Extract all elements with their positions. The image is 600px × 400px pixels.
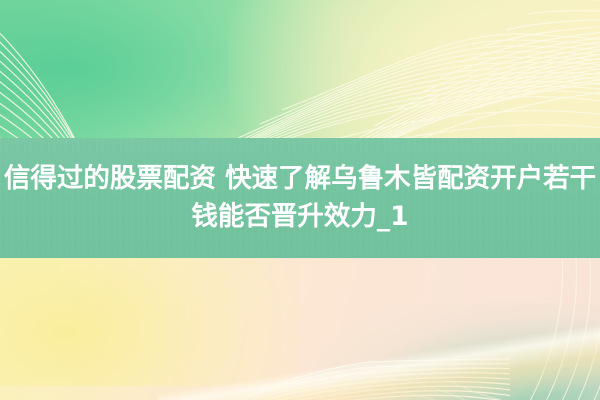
- headline-line-1: 信得过的股票配资 快速了解乌鲁木皆配资开户若干: [4, 160, 596, 198]
- headline-band: 信得过的股票配资 快速了解乌鲁木皆配资开户若干 钱能否晋升效力_1: [0, 138, 600, 258]
- decorative-gradient-band-top: [0, 0, 600, 138]
- headline-line-2: 钱能否晋升效力_1: [191, 198, 408, 236]
- page-title: 信得过的股票配资 快速了解乌鲁木皆配资开户若干 钱能否晋升效力_1: [0, 138, 600, 258]
- poster-canvas: 信得过的股票配资 快速了解乌鲁木皆配资开户若干 钱能否晋升效力_1: [0, 0, 600, 400]
- top-band-lower-wave-lines: [40, 0, 600, 138]
- decorative-gradient-band-bottom: [0, 258, 600, 400]
